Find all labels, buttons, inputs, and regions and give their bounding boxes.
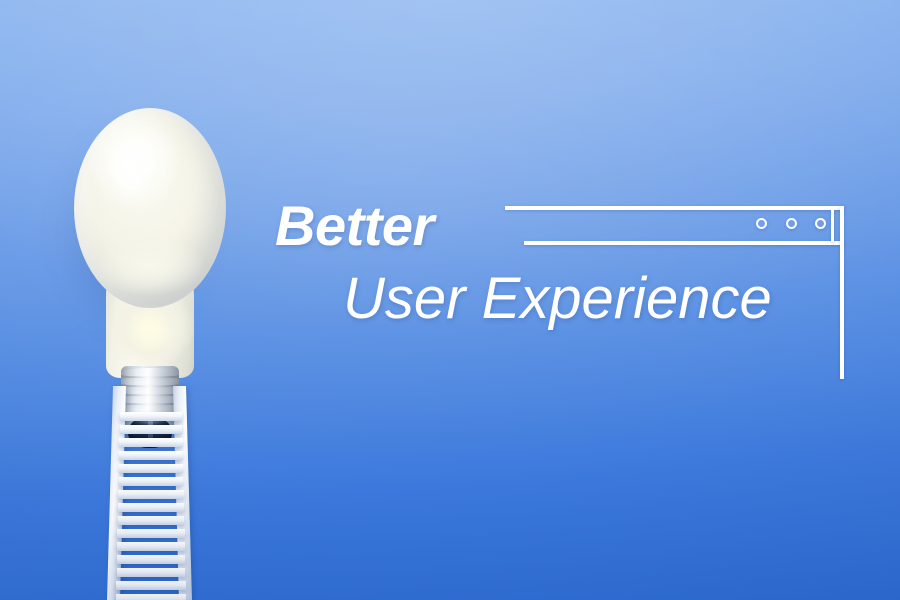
window-dot-3-icon — [815, 218, 826, 229]
window-dot-2-icon — [786, 218, 797, 229]
headline-line-1: Better — [275, 198, 434, 254]
headline-block: Better User Experience — [275, 198, 434, 254]
ladder-rung — [117, 529, 184, 538]
ladder-rung — [120, 425, 183, 434]
frame-titlebar-right-edge — [831, 210, 834, 242]
screw-thread — [121, 368, 179, 377]
bulb-filament-glow — [122, 304, 178, 362]
ladder-rung — [119, 464, 183, 473]
headline-line-2: User Experience — [343, 270, 772, 328]
ladder-rung — [116, 594, 186, 600]
ladder-rung — [116, 581, 185, 590]
ladder-rung — [119, 477, 184, 486]
frame-titlebar-divider — [524, 241, 844, 245]
ladder-rung — [118, 516, 185, 525]
ladder-rung — [118, 490, 183, 499]
ladder-rung — [119, 451, 183, 460]
ladder-rung — [120, 412, 182, 421]
ladder-rung — [118, 503, 184, 512]
frame-right-line — [840, 206, 844, 379]
frame-top-line — [505, 206, 844, 210]
light-bulb — [68, 108, 232, 404]
window-dot-1-icon — [756, 218, 767, 229]
ladder-rung — [117, 568, 186, 577]
poster-canvas: Better User Experience — [0, 0, 900, 600]
screw-thread — [121, 377, 179, 386]
ladder-rung — [119, 438, 182, 447]
ladder-rung — [117, 555, 185, 564]
bulb-neck-blend — [88, 238, 212, 308]
ladder-rung — [117, 542, 185, 551]
ladder — [96, 386, 204, 600]
bulb-highlight — [98, 126, 162, 218]
